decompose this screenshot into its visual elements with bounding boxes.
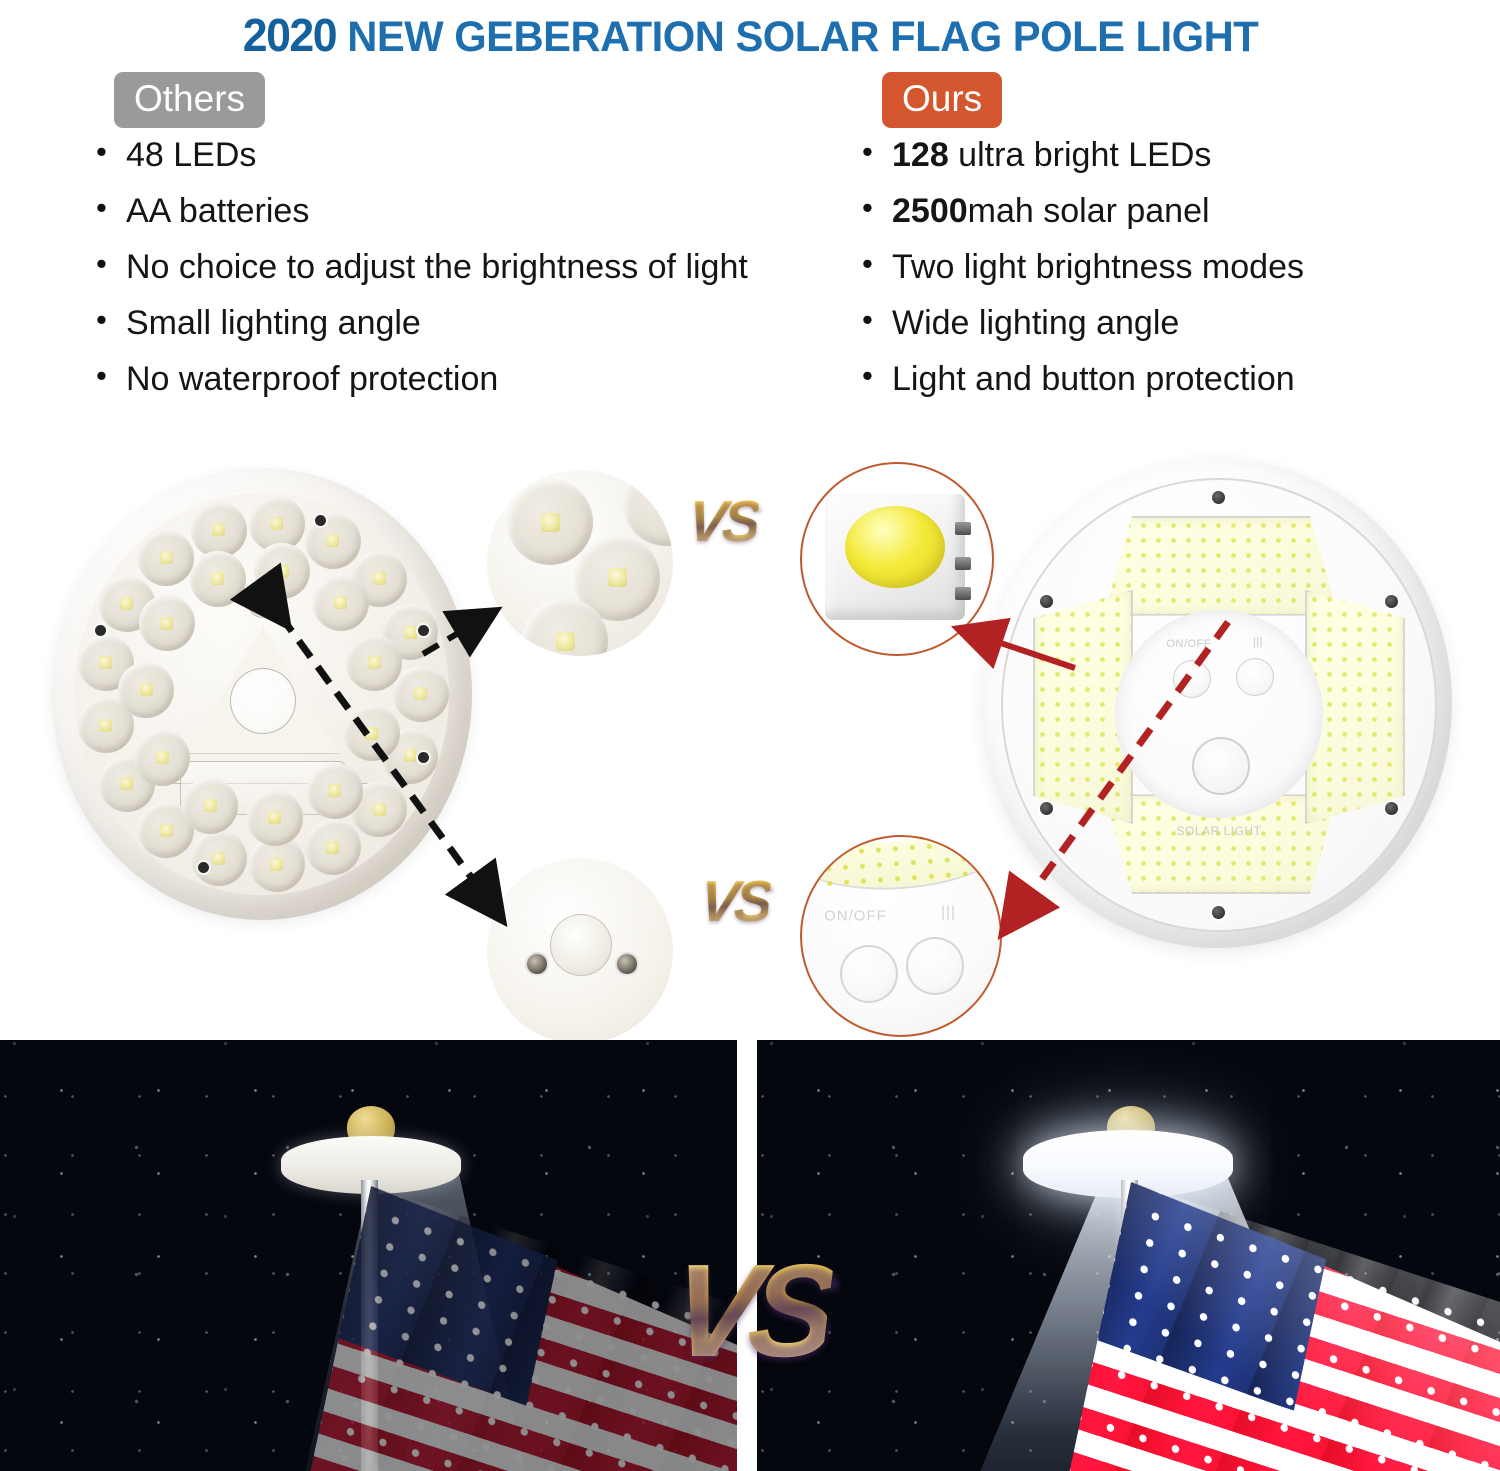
callout-led-chip (800, 462, 994, 656)
smd-chip-body (825, 494, 966, 619)
comparison-columns: Others 48 LEDs AA batteries No choice to… (0, 72, 1500, 442)
screw-dot-icon (1212, 906, 1225, 919)
badge-ours: Ours (882, 72, 1002, 128)
page-title-bar: 2020 NEW GEBERATION SOLAR FLAG POLE LIGH… (0, 0, 1500, 70)
led-cup (247, 790, 303, 846)
brightness-button-magnified[interactable] (906, 937, 964, 995)
led-cup-magnified (623, 470, 673, 546)
onoff-button-magnified[interactable] (840, 945, 898, 1003)
list-item-text: Two light brightness modes (892, 248, 1304, 286)
vs-badge-photos: VS (664, 1245, 836, 1377)
callout-competitor-leds (487, 470, 673, 656)
list-item-emphasis: 2500 (892, 192, 968, 230)
onoff-button[interactable] (1173, 660, 1211, 698)
screw-dot-icon (525, 952, 549, 976)
screw-dot-icon (1040, 802, 1053, 815)
list-item: 48 LEDs (88, 138, 828, 172)
page-title: 2020 NEW GEBERATION SOLAR FLAG POLE LIGH… (242, 8, 1258, 62)
bright-flag-photo (757, 1040, 1500, 1471)
list-item: Light and button protection (848, 362, 1448, 396)
pole-mount-hole (1192, 737, 1250, 795)
led-cup (191, 502, 247, 558)
list-item: 2500mah solar panel (848, 194, 1448, 228)
ours-lamp-rim: ON/OFF ||| SOLAR LIGHT (1001, 478, 1437, 933)
vs-badge-top: VS (684, 488, 760, 555)
screw-dot-icon (1385, 595, 1398, 608)
list-item: 128 ultra bright LEDs (848, 138, 1448, 172)
vs-badge-bottom: VS (696, 868, 772, 935)
competitor-button-magnified (550, 914, 612, 976)
list-item: Small lighting angle (88, 306, 828, 340)
chip-pad-icon (955, 587, 971, 600)
led-cup (313, 575, 369, 631)
feature-list-others: 48 LEDs AA batteries No choice to adjust… (88, 138, 828, 396)
screw-dot-icon (198, 862, 209, 873)
page-title-rest: NEW GEBERATION SOLAR FLAG POLE LIGHT (336, 13, 1258, 61)
led-panel-top (1104, 516, 1338, 616)
callout-competitor-button (487, 858, 673, 1044)
onoff-label: ON/OFF (1166, 638, 1211, 650)
pole-mount-hole (230, 668, 296, 734)
brightness-label: ||| (1253, 636, 1263, 648)
list-item-text: Wide lighting angle (892, 304, 1179, 342)
list-item-emphasis: 128 (892, 136, 949, 174)
product-comparison-area: VS VS ON/OFF ||| ON/OFF ||| SO (0, 440, 1500, 1040)
onoff-label-magnified: ON/OFF (824, 908, 887, 925)
led-cup (307, 763, 363, 819)
ours-lamp-image: ON/OFF ||| SOLAR LIGHT (982, 458, 1452, 948)
led-cup (190, 551, 246, 607)
led-cup (191, 830, 247, 886)
brightness-button[interactable] (1236, 658, 1274, 696)
led-cup (344, 705, 400, 761)
list-item: AA batteries (88, 194, 828, 228)
feature-list-ours: 128 ultra bright LEDs 2500mah solar pane… (848, 138, 1448, 396)
chip-pad-icon (955, 557, 971, 570)
led-cup (393, 666, 449, 722)
screw-dot-icon (1212, 491, 1225, 504)
screw-dot-icon (1040, 595, 1053, 608)
list-item-text: ultra bright LEDs (949, 136, 1212, 174)
led-cup (182, 778, 238, 834)
dim-flag-photo (0, 1040, 737, 1471)
list-item: Wide lighting angle (848, 306, 1448, 340)
led-cup (305, 513, 361, 569)
badge-others: Others (114, 72, 265, 128)
led-cup-magnified (507, 479, 593, 565)
screw-dot-icon (315, 515, 326, 526)
led-cup (138, 530, 194, 586)
led-strip-edge (800, 835, 1002, 897)
led-cup (118, 662, 174, 718)
list-item: No waterproof protection (88, 362, 828, 396)
column-others: Others 48 LEDs AA batteries No choice to… (88, 72, 828, 418)
chip-pad-icon (955, 522, 971, 535)
led-cup (134, 730, 190, 786)
phosphor-dome (845, 506, 945, 588)
screw-dot-icon (615, 952, 639, 976)
screw-dot-icon (1385, 802, 1398, 815)
competitor-lamp-face (75, 493, 449, 895)
led-cup (346, 635, 402, 691)
callout-ours-buttons: ON/OFF ||| (800, 835, 1002, 1037)
led-cup (305, 819, 361, 875)
list-item: Two light brightness modes (848, 250, 1448, 284)
brand-text: SOLAR LIGHT (1177, 824, 1262, 838)
brightness-label-magnified: ||| (941, 904, 956, 921)
list-item-text: Light and button protection (892, 360, 1295, 398)
led-cup (254, 543, 310, 599)
list-item: No choice to adjust the brightness of li… (88, 250, 828, 284)
led-cup (139, 595, 195, 651)
page-title-year: 2020 (242, 9, 335, 61)
column-ours: Ours 128 ultra bright LEDs 2500mah solar… (848, 72, 1448, 418)
competitor-lamp-image (52, 468, 472, 920)
screw-dot-icon (418, 752, 429, 763)
list-item-text: mah solar panel (968, 192, 1210, 230)
